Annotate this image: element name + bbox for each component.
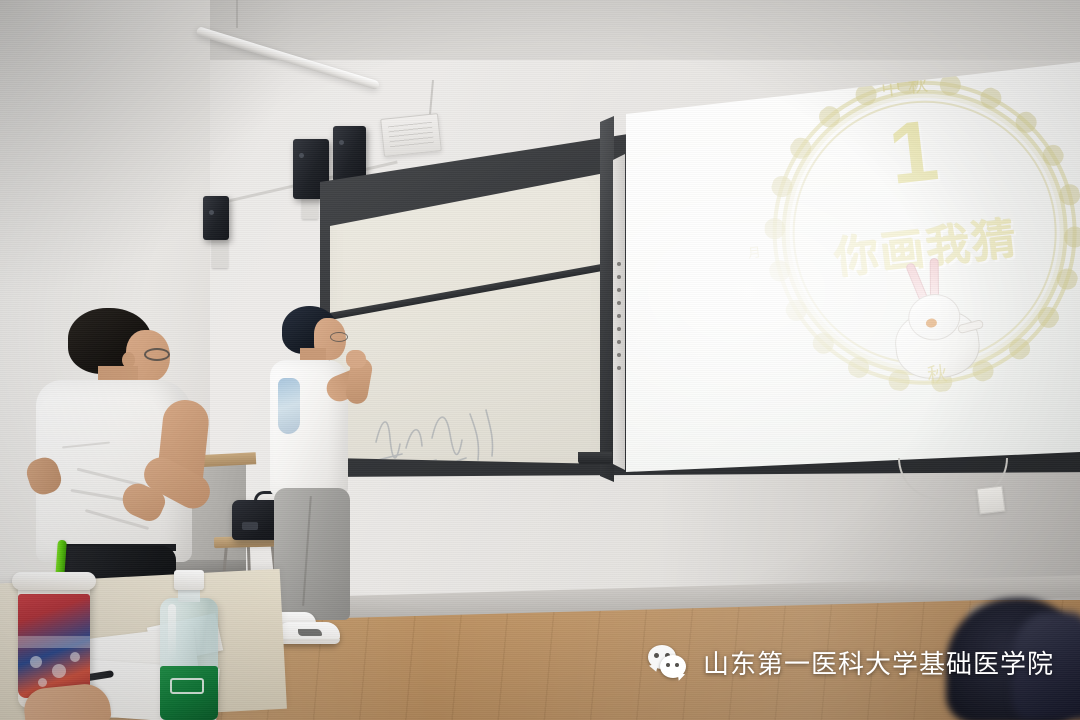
cup-lid — [12, 572, 96, 590]
person-drawing-shirt-graphic — [278, 378, 300, 434]
control-button-icon[interactable] — [617, 262, 621, 266]
control-button-icon[interactable] — [617, 340, 621, 344]
watermark-text: 山东第一医科大学基础医学院 — [703, 644, 1054, 681]
light-suspension-rod — [236, 0, 238, 28]
board-control-strip[interactable] — [613, 132, 625, 472]
person-drawing-hand — [346, 350, 366, 368]
control-button-icon[interactable] — [617, 353, 621, 357]
speaker-left — [203, 196, 229, 240]
screen-bottom-tray — [578, 452, 612, 464]
control-button-icon[interactable] — [617, 327, 621, 331]
board-middle-frame — [600, 64, 614, 482]
board-assembly: 中秋 月 1 你画我猜 秋 — [300, 62, 1080, 482]
speaker-bracket-left — [212, 238, 228, 268]
slide-content: 中秋 月 1 你画我猜 秋 — [748, 62, 1080, 469]
person-drawing-shoe-sole — [278, 639, 340, 644]
wechat-eye — [654, 653, 659, 658]
person-drawing-glasses-icon — [330, 332, 348, 342]
rabbit-ear-right-icon — [930, 258, 939, 298]
control-button-icon[interactable] — [617, 301, 621, 305]
cup-label-dot — [52, 664, 66, 678]
control-button-icon[interactable] — [617, 275, 621, 279]
control-button-icon[interactable] — [617, 288, 621, 292]
wall-outlet-plate — [977, 486, 1006, 515]
sneaker-logo-icon — [298, 629, 322, 636]
person-drawing-pants — [274, 488, 350, 620]
bottle-brand-icon — [170, 678, 204, 694]
control-button-icon[interactable] — [617, 314, 621, 318]
wechat-bubble-small — [660, 655, 686, 678]
speaker-indicator-icon — [209, 210, 214, 215]
cup-label-band — [18, 636, 90, 648]
water-bottle — [158, 570, 220, 720]
classroom-photo: 中秋 月 1 你画我猜 秋 — [0, 0, 1080, 720]
projected-slide: 中秋 月 1 你画我猜 秋 — [618, 62, 1080, 480]
slide-round-number: 1 — [849, 103, 978, 202]
wechat-logo-icon — [648, 645, 690, 681]
cup-label-dot — [38, 678, 47, 687]
wechat-eye — [675, 663, 679, 667]
cup-label-dot — [70, 652, 80, 662]
watermark: 山东第一医科大学基础医学院 — [648, 644, 1054, 681]
cup-label — [18, 594, 90, 698]
control-button-icon[interactable] — [617, 366, 621, 370]
cup-label-dot — [30, 656, 42, 668]
bottle-highlight — [168, 604, 176, 660]
shirt-fold — [62, 441, 110, 448]
bottle-neck — [178, 588, 200, 602]
wechat-eye — [666, 663, 670, 667]
slide-side-label: 月 — [747, 241, 762, 261]
bottle-label — [160, 666, 218, 720]
person-left-glasses-icon — [144, 348, 170, 361]
bottle-cap — [174, 570, 204, 590]
